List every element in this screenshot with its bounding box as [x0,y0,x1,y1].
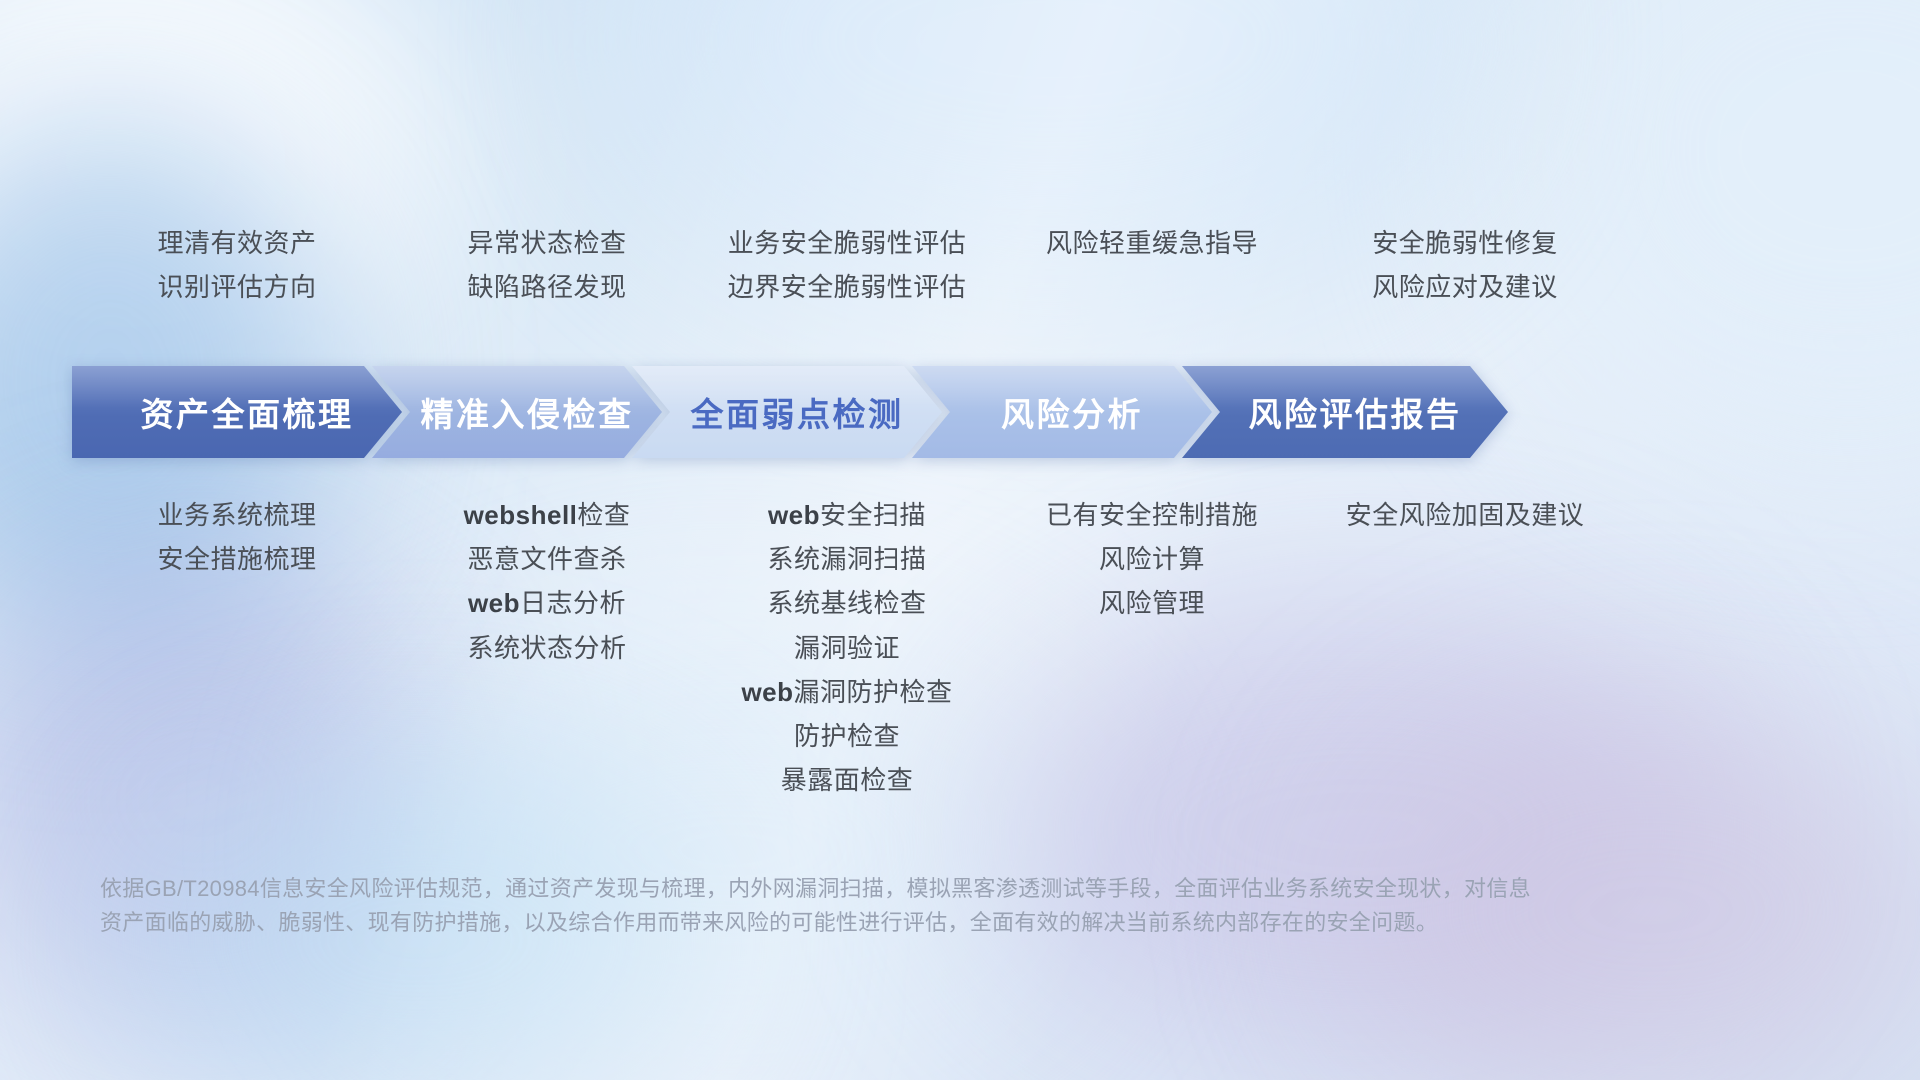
bottom-labels-assessment-report: 安全风险加固及建议 [1302,500,1628,531]
bottom-labels-weakness-detection: web安全扫描 系统漏洞扫描 系统基线检查 漏洞验证 web漏洞防护检查 防护检… [692,500,1002,796]
cjk-text: 漏洞防护检查 [794,677,953,707]
cjk-text: 防护检查 [794,721,900,751]
bottom-label-item: 系统状态分析 [467,633,626,664]
cjk-text: 安全风险加固及建议 [1346,500,1585,530]
bottom-label-item: 系统漏洞扫描 [767,544,926,575]
cjk-text: 检查 [577,500,630,530]
top-labels-assessment-report: 安全脆弱性修复 风险应对及建议 [1302,228,1628,303]
footer-line-1: 依据GB/T20984信息安全风险评估规范，通过资产发现与梳理，内外网漏洞扫描，… [100,872,1660,906]
footer-line-2: 资产面临的威胁、脆弱性、现有防护措施，以及综合作用而带来风险的可能性进行评估，全… [100,906,1660,940]
cjk-text: 系统漏洞扫描 [767,544,926,574]
chevron-label: 精准入侵检查 [372,388,662,436]
top-label-item: 安全脆弱性修复 [1372,228,1558,259]
slide-canvas: 理清有效资产 识别评估方向 异常状态检查 缺陷路径发现 业务安全脆弱性评估 边界… [0,0,1920,1080]
cjk-text: 系统基线检查 [767,588,926,618]
latin-prefix: web [768,500,820,530]
bottom-label-item: 恶意文件查杀 [467,544,626,575]
top-label-item: 异常状态检查 [467,228,626,259]
bottom-label-row: 业务系统梳理 安全措施梳理 webshell检查 恶意文件查杀 web日志分析 … [72,500,1848,796]
top-label-item: 边界安全脆弱性评估 [728,272,967,303]
cjk-text: 业务系统梳理 [157,500,316,530]
latin-prefix: web [468,588,520,618]
top-labels-asset-inventory: 理清有效资产 识别评估方向 [72,228,402,303]
bottom-label-item: 系统基线检查 [767,588,926,619]
process-chevron-band: 资产全面梳理 精准入侵检查 全面弱点检测 风险分析 风险评估报告 [72,366,1848,458]
bottom-label-item: 防护检查 [794,721,900,752]
diagram-content: 理清有效资产 识别评估方向 异常状态检查 缺陷路径发现 业务安全脆弱性评估 边界… [0,0,1920,1080]
bottom-label-item: 暴露面检查 [781,765,914,796]
footer-description: 依据GB/T20984信息安全风险评估规范，通过资产发现与梳理，内外网漏洞扫描，… [100,872,1660,940]
cjk-text: 已有安全控制措施 [1046,500,1258,530]
cjk-text: 安全措施梳理 [157,544,316,574]
top-label-item: 业务安全脆弱性评估 [728,228,967,259]
bottom-label-item: 漏洞验证 [794,633,900,664]
top-label-item: 风险应对及建议 [1372,272,1558,303]
chevron-label: 风险评估报告 [1182,388,1508,436]
bottom-label-item: 风险管理 [1099,588,1205,619]
cjk-text: 恶意文件查杀 [467,544,626,574]
chevron-label: 资产全面梳理 [72,388,402,436]
top-label-item: 缺陷路径发现 [467,272,626,303]
latin-prefix: webshell [464,500,578,530]
bottom-label-item: 业务系统梳理 [157,500,316,531]
bottom-label-item: 已有安全控制措施 [1046,500,1258,531]
cjk-text: 风险计算 [1099,544,1205,574]
cjk-text: 系统状态分析 [467,633,626,663]
bottom-label-item: webshell检查 [464,500,631,531]
bottom-label-item: web安全扫描 [768,500,926,531]
top-label-item: 理清有效资产 [157,228,316,259]
cjk-text: 风险管理 [1099,588,1205,618]
bottom-label-item: 风险计算 [1099,544,1205,575]
bottom-label-item: web漏洞防护检查 [741,677,952,708]
latin-prefix: web [741,677,793,707]
chevron-label: 全面弱点检测 [632,388,942,436]
cjk-text: 日志分析 [520,588,626,618]
cjk-text: 暴露面检查 [781,765,914,795]
cjk-text: 漏洞验证 [794,633,900,663]
chevron-label: 风险分析 [912,388,1212,436]
chevron-stage-weakness-detection[interactable]: 全面弱点检测 [632,366,942,458]
chevron-stage-risk-analysis[interactable]: 风险分析 [912,366,1212,458]
top-labels-weakness-detection: 业务安全脆弱性评估 边界安全脆弱性评估 [692,228,1002,303]
top-labels-intrusion-check: 异常状态检查 缺陷路径发现 [402,228,692,303]
chevron-stage-assessment-report[interactable]: 风险评估报告 [1182,366,1508,458]
chevron-stage-intrusion-check[interactable]: 精准入侵检查 [372,366,662,458]
top-label-item: 风险轻重缓急指导 [1046,228,1258,259]
top-label-row: 理清有效资产 识别评估方向 异常状态检查 缺陷路径发现 业务安全脆弱性评估 边界… [72,228,1848,303]
bottom-labels-asset-inventory: 业务系统梳理 安全措施梳理 [72,500,402,575]
top-label-item: 识别评估方向 [157,272,316,303]
bottom-label-item: web日志分析 [468,588,626,619]
bottom-label-item: 安全风险加固及建议 [1346,500,1585,531]
top-labels-risk-analysis: 风险轻重缓急指导 [1002,228,1302,303]
bottom-labels-intrusion-check: webshell检查 恶意文件查杀 web日志分析 系统状态分析 [402,500,692,664]
bottom-label-item: 安全措施梳理 [157,544,316,575]
cjk-text: 安全扫描 [820,500,926,530]
bottom-labels-risk-analysis: 已有安全控制措施 风险计算 风险管理 [1002,500,1302,620]
chevron-stage-asset-inventory[interactable]: 资产全面梳理 [72,366,402,458]
